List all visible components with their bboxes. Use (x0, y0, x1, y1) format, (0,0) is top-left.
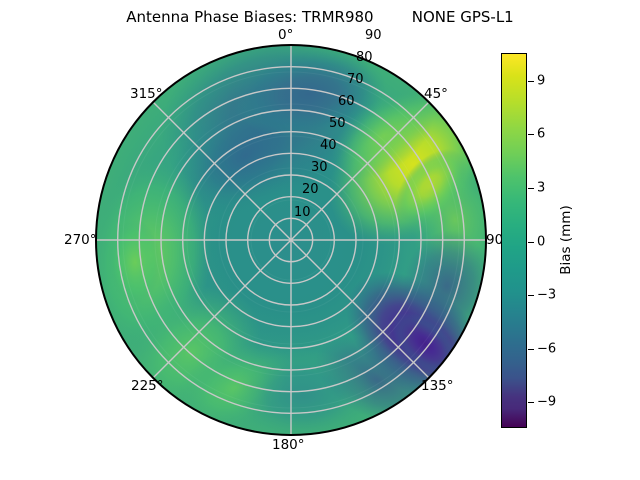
radial-tick-70: 70 (347, 72, 364, 87)
azimuth-label-225: 225° (131, 378, 164, 394)
colorbar-tick-0 (528, 242, 534, 243)
colorbar-ticklabel-3: 3 (537, 180, 545, 195)
azimuth-label-180: 180° (272, 437, 305, 453)
colorbar-tick-minus9 (528, 402, 534, 403)
radial-tick-20: 20 (302, 182, 319, 197)
colorbar-gradient (502, 54, 526, 427)
azimuth-label-135: 135° (421, 378, 454, 394)
polar-grid-spokes (96, 45, 486, 435)
colorbar-axis-label: Bias (mm) (558, 205, 574, 274)
radial-tick-40: 40 (320, 138, 337, 153)
colorbar-ticklabel-minus3: −3 (537, 288, 556, 303)
radial-tick-90: 90 (365, 28, 382, 43)
colorbar-ticklabel-6: 6 (537, 127, 545, 142)
figure-canvas: Antenna Phase Biases: TRMR980 NONE GPS-L… (0, 0, 640, 480)
azimuth-label-270: 270° (64, 232, 97, 248)
colorbar-ticklabel-9: 9 (537, 73, 545, 88)
radial-tick-10: 10 (294, 205, 311, 220)
radial-tick-50: 50 (329, 116, 346, 131)
colorbar[interactable] (501, 53, 527, 428)
colorbar-tick-9 (528, 81, 534, 82)
radial-tick-30: 30 (311, 160, 328, 175)
azimuth-label-0: 0° (278, 27, 293, 43)
figure-title: Antenna Phase Biases: TRMR980 NONE GPS-L… (0, 8, 640, 26)
azimuth-label-45: 45° (424, 86, 448, 102)
colorbar-tick-minus3 (528, 295, 534, 296)
colorbar-tick-minus6 (528, 349, 534, 350)
radial-tick-80: 80 (356, 50, 373, 65)
colorbar-ticklabel-0: 0 (537, 234, 545, 249)
azimuth-label-315: 315° (130, 86, 163, 102)
colorbar-tick-3 (528, 188, 534, 189)
colorbar-ticklabel-minus6: −6 (537, 341, 556, 356)
colorbar-tick-6 (528, 134, 534, 135)
radial-tick-60: 60 (338, 94, 355, 109)
colorbar-ticklabel-minus9: −9 (537, 395, 556, 410)
